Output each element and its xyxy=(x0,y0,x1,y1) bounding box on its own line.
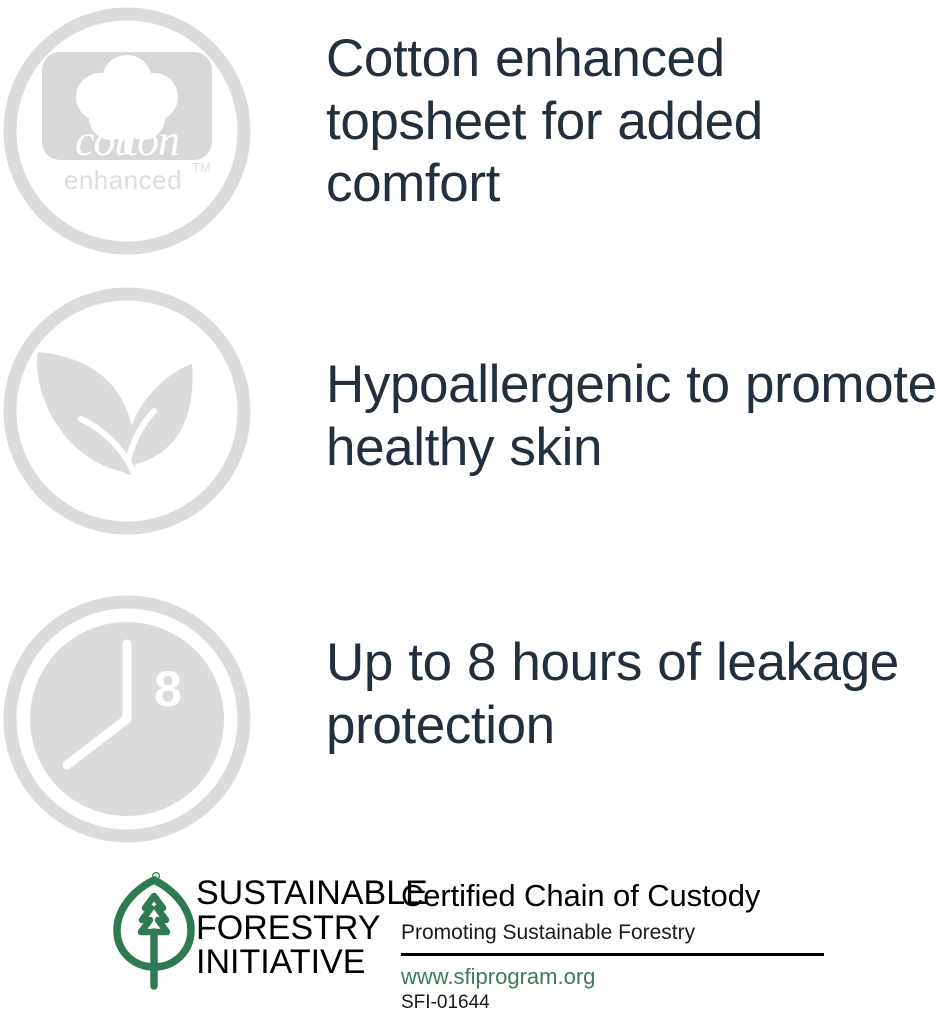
sfi-wordmark: SUSTAINABLE FORESTRY INITIATIVE xyxy=(196,876,428,980)
cotton-enhanced-subtext: enhanced xyxy=(64,165,182,195)
sfi-leaf-tree-logo: ® xyxy=(112,870,196,990)
trademark-icon: TM xyxy=(192,160,211,175)
sfi-certification-subtitle: Promoting Sustainable Forestry xyxy=(401,920,841,945)
cotton-brand-text: cotton xyxy=(75,116,179,165)
clock-eight-hours-icon: 8 xyxy=(0,588,258,850)
sfi-wordmark-line-2: FORESTRY xyxy=(196,911,428,946)
feature-text-hypoallergenic: Hypoallergenic to promote healthy skin xyxy=(326,354,939,479)
leaf-circle-icon xyxy=(0,280,258,542)
feature-text-leakage: Up to 8 hours of leakage protection xyxy=(326,632,936,757)
sfi-website-link[interactable]: www.sfiprogram.org xyxy=(401,965,841,989)
cotton-enhanced-badge-icon: cotton enhanced TM xyxy=(0,0,258,262)
sfi-wordmark-line-1: SUSTAINABLE xyxy=(196,876,428,911)
sfi-certification-details: Certified Chain of Custody Promoting Sus… xyxy=(401,880,841,1014)
sfi-divider xyxy=(401,953,824,956)
sfi-certification-title: Certified Chain of Custody xyxy=(401,880,841,913)
sfi-wordmark-line-3: INITIATIVE xyxy=(196,945,428,980)
clock-hour-number: 8 xyxy=(154,661,182,717)
sfi-license-code: SFI-01644 xyxy=(401,993,841,1014)
sfi-certification-footer: ® SUSTAINABLE FORESTRY INITIATIVE Certif… xyxy=(0,860,939,1024)
feature-text-cotton: Cotton enhanced topsheet for added comfo… xyxy=(326,28,936,216)
infographic-page: cotton enhanced TM Cotton enhanced topsh… xyxy=(0,0,939,1024)
